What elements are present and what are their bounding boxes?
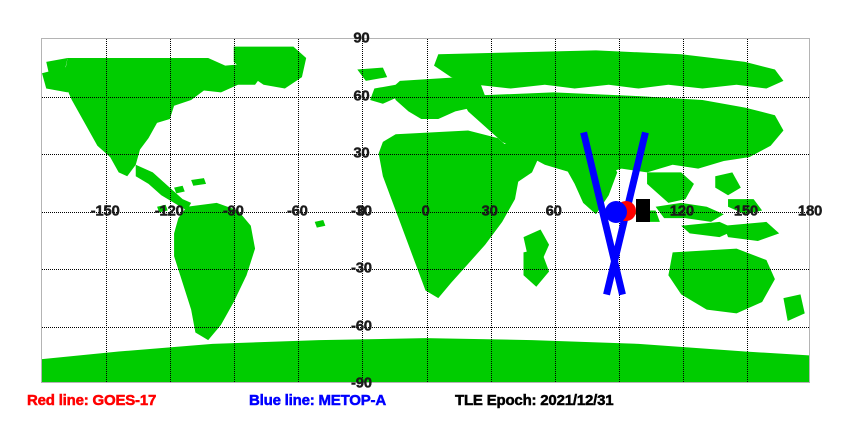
satellite-box-marker xyxy=(636,199,650,222)
world-map xyxy=(41,38,810,383)
ground-track-layer xyxy=(42,39,809,382)
metop-a-position-marker xyxy=(605,201,627,223)
legend: Red line: GOES-17 Blue line: METOP-A TLE… xyxy=(0,392,850,420)
legend-tle-epoch: TLE Epoch: 2021/12/31 xyxy=(455,392,613,409)
legend-red-line: Red line: GOES-17 xyxy=(27,392,156,409)
legend-blue-line: Blue line: METOP-A xyxy=(249,392,386,409)
